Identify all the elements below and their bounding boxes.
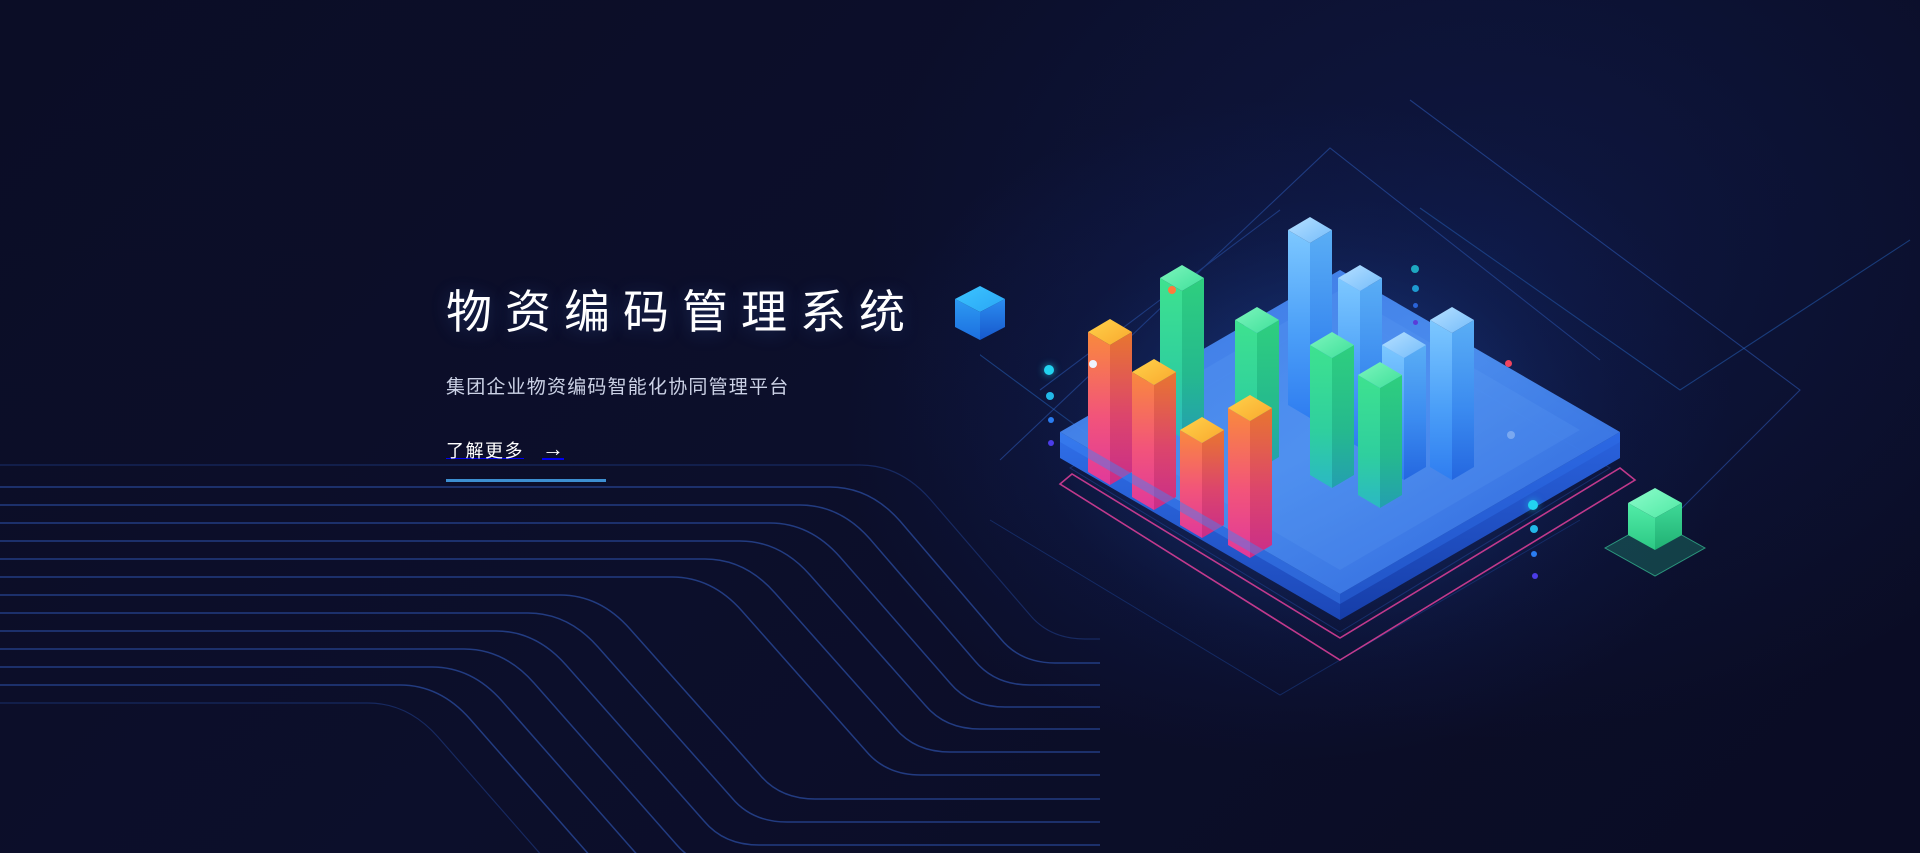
hero-content: 物资编码管理系统 集团企业物资编码智能化协同管理平台 — [446, 282, 1006, 482]
title-row: 物资编码管理系统 — [446, 282, 1006, 342]
dot-teal-lg — [1411, 265, 1419, 273]
dot-red-accent — [1505, 360, 1512, 367]
dot-cyan-lg — [1044, 365, 1054, 375]
dot-orange-accent — [1168, 286, 1176, 294]
dot-indigo-sm — [1413, 303, 1418, 308]
dot-blue-sm — [1048, 417, 1054, 423]
page-subtitle: 集团企业物资编码智能化协同管理平台 — [446, 372, 1006, 399]
dot-purple-sm-2 — [1532, 573, 1538, 579]
dot-cyan-lg-2 — [1528, 500, 1538, 510]
page-title: 物资编码管理系统 — [446, 287, 918, 338]
dot-teal-md — [1412, 285, 1419, 292]
dot-cyan-md — [1046, 392, 1054, 400]
learn-more-label: 了解更多 — [446, 437, 524, 463]
hero-banner: 物资编码管理系统 集团企业物资编码智能化协同管理平台 — [0, 0, 1920, 853]
bar-B12 — [1430, 307, 1474, 480]
arrow-right-icon: → — [542, 438, 564, 460]
learn-more-link[interactable]: 了解更多 → — [446, 437, 606, 482]
circuit-lines-decor — [0, 453, 1100, 853]
isometric-bar-chart-illustration — [1020, 180, 1660, 700]
dot-lightblue-accent — [1507, 431, 1515, 439]
blue-cube-icon — [952, 284, 1008, 342]
green-cube-icon — [1600, 482, 1710, 582]
bar-B10 — [1358, 362, 1402, 508]
dot-cyan-md-2 — [1530, 525, 1538, 533]
dot-white-accent — [1089, 360, 1097, 368]
bar-B8 — [1310, 332, 1354, 488]
dot-blue-sm-2 — [1531, 551, 1537, 557]
dot-purple-sm — [1048, 440, 1054, 446]
dot-violet-sm — [1413, 320, 1418, 325]
